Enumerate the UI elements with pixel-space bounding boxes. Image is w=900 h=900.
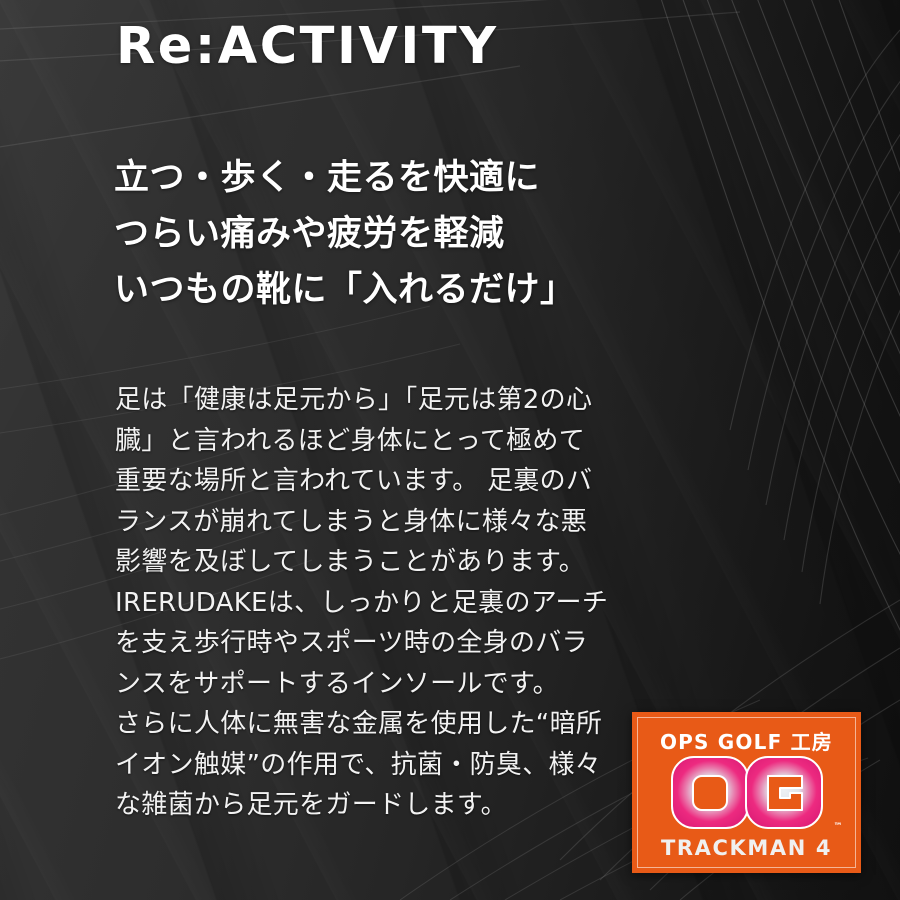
headline-line-2: つらい痛みや疲労を軽減 <box>114 206 576 262</box>
body-line-1: 足は「健康は足元から」「足元は第2の心 <box>115 380 635 421</box>
headline-block: 立つ・歩く・走るを快適に つらい痛みや疲労を軽減 いつもの靴に「入れるだけ」 <box>114 150 576 318</box>
body-line-5: 影響を及ぼしてしまうことがあります。 <box>115 542 635 583</box>
body-line-3: 重要な場所と言われています。 足裏のバ <box>115 461 635 502</box>
badge-product-name: TRACKMAN 4 <box>632 836 861 860</box>
body-line-8: ンスをサポートするインソールです。 <box>115 664 635 705</box>
headline-line-1: 立つ・歩く・走るを快適に <box>114 150 576 206</box>
body-line-6: IRERUDAKEは、しっかりと足裏のアーチ <box>115 583 635 624</box>
poster-root: Re:ACTIVITY 立つ・歩く・走るを快適に つらい痛みや疲労を軽減 いつも… <box>0 0 900 900</box>
body-line-9: さらに人体に無害な金属を使用した“暗所 <box>115 704 635 745</box>
badge-brand-name: OPS GOLF 工房 <box>632 726 861 755</box>
body-copy-block: 足は「健康は足元から」「足元は第2の心 臓」と言われるほど身体にとって極めて 重… <box>115 380 635 826</box>
body-line-7: を支え歩行時やスポーツ時の全身のバラ <box>115 623 635 664</box>
trademark-icon: ™ <box>834 822 844 832</box>
og-monogram-logo <box>671 756 823 829</box>
body-line-4: ランスが崩れてしまうと身体に様々な悪 <box>115 502 635 543</box>
body-line-2: 臓」と言われるほど身体にとって極めて <box>115 421 635 462</box>
body-line-11: な雑菌から足元をガードします。 <box>115 785 635 826</box>
body-line-10: イオン触媒”の作用で、抗菌・防臭、様々 <box>115 745 635 786</box>
page-title: Re:ACTIVITY <box>116 18 499 75</box>
ops-golf-badge[interactable]: OPS GOLF 工房 <box>632 712 861 873</box>
headline-line-3: いつもの靴に「入れるだけ」 <box>114 262 576 318</box>
